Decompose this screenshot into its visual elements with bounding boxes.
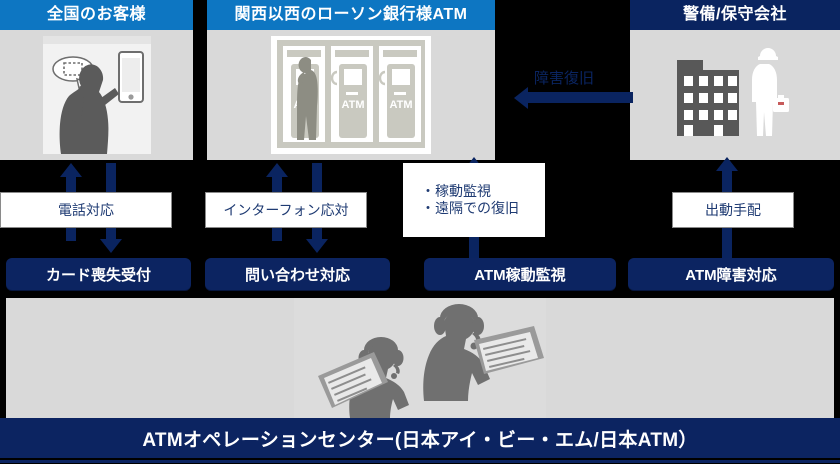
label-phone-support: 電話対応 — [0, 192, 172, 228]
footer-rule — [0, 460, 840, 463]
arrow-down-customers — [100, 239, 122, 253]
operations-center-area — [6, 298, 834, 418]
operations-center-banner: ATMオペレーションセンター(日本アイ・ビー・エム/日本ATM） — [0, 418, 840, 458]
panel-atm-body: ATM ATM ATM — [207, 30, 495, 160]
service-atm-monitor[interactable]: ATM稼動監視 — [424, 258, 616, 290]
label-remote-monitoring-line1: ・稼動監視 — [421, 183, 491, 201]
panel-atm: 関西以西のローソン銀行様ATM — [207, 0, 495, 160]
customer-phone-illustration — [43, 36, 151, 159]
arrow-up-monitoring-stem-lower — [469, 237, 479, 258]
arrow-down-atm-stem-upper — [312, 163, 322, 192]
label-dispatch: 出動手配 — [672, 192, 794, 228]
panel-security-body — [630, 30, 840, 160]
service-card-loss[interactable]: カード喪失受付 — [6, 258, 191, 290]
arrow-up-customers-stem — [66, 177, 76, 192]
service-inquiry[interactable]: 問い合わせ対応 — [205, 258, 390, 290]
arrow-left-fault-recovery-head — [514, 87, 528, 109]
svg-text:ATM: ATM — [341, 99, 364, 111]
panel-customers: 全国のお客様 — [0, 0, 193, 160]
panel-customers-body — [0, 30, 193, 160]
building-technician-illustration — [665, 36, 805, 153]
panel-security-title: 警備/保守会社 — [630, 0, 840, 30]
arrow-up-dispatch-stem — [722, 171, 732, 192]
label-intercom-support: インターフォン応対 — [205, 192, 367, 228]
arrow-down-customers-stem-upper — [106, 163, 116, 192]
arrow-up-atm-stem — [272, 177, 282, 192]
label-remote-monitoring: ・稼動監視 ・遠隔での復旧 — [403, 163, 545, 237]
arrow-left-fault-recovery-stem — [528, 92, 633, 103]
arrow-down-atm — [306, 239, 328, 253]
label-fault-recovery: 障害復旧 — [505, 66, 623, 88]
panel-customers-title: 全国のお客様 — [0, 0, 193, 30]
atm-booths-illustration: ATM ATM ATM — [271, 36, 431, 159]
panel-atm-title: 関西以西のローソン銀行様ATM — [207, 0, 495, 30]
arrow-up-customers-stem-lower — [66, 226, 76, 241]
arrow-up-atm — [266, 163, 288, 177]
label-remote-monitoring-line2: ・遠隔での復旧 — [421, 200, 519, 218]
arrow-up-customers — [60, 163, 82, 177]
arrow-up-dispatch — [716, 157, 738, 171]
arrow-up-atm-stem-lower — [272, 226, 282, 241]
arrow-up-dispatch-stem-lower — [722, 226, 732, 258]
panel-security: 警備/保守会社 — [630, 0, 840, 160]
service-atm-fault[interactable]: ATM障害対応 — [628, 258, 834, 290]
operators-with-headsets-illustration — [294, 298, 546, 423]
diagram-canvas: 全国のお客様 — [0, 0, 840, 464]
svg-text:ATM: ATM — [389, 99, 412, 111]
